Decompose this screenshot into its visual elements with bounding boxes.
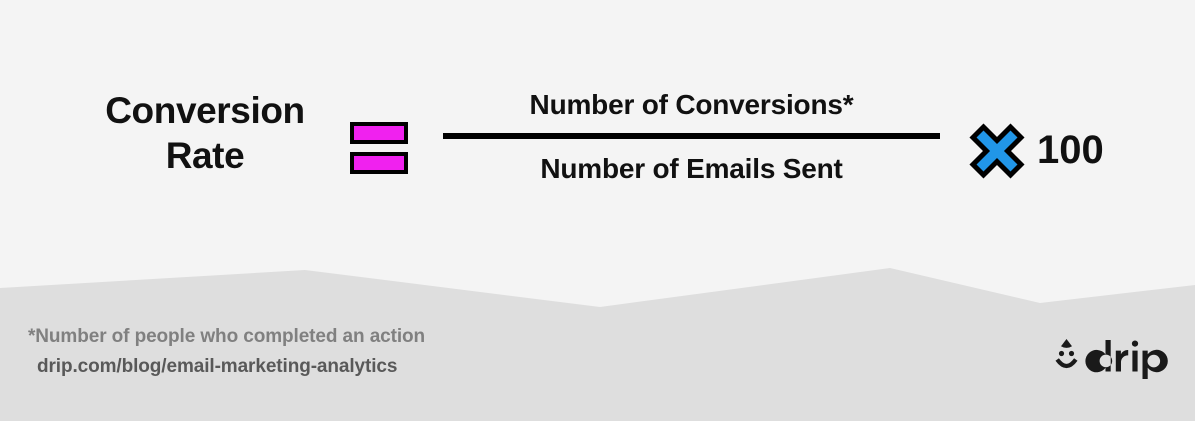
fraction-denominator: Number of Emails Sent bbox=[443, 139, 940, 186]
conversion-rate-label-line1: Conversion bbox=[60, 88, 350, 133]
drip-wordmark bbox=[1085, 340, 1167, 379]
equals-sign-icon bbox=[350, 122, 408, 178]
equals-bar-bottom bbox=[350, 152, 408, 174]
conversion-rate-label-line2: Rate bbox=[60, 133, 350, 178]
multiplier-value: 100 bbox=[1037, 123, 1104, 177]
equals-bar-top bbox=[350, 122, 408, 144]
formula-row: Conversion Rate Number of Conversions* N… bbox=[0, 88, 1195, 208]
multiply-x-icon bbox=[966, 120, 1028, 182]
footer-text-block: *Number of people who completed an actio… bbox=[28, 322, 648, 382]
fraction: Number of Conversions* Number of Emails … bbox=[443, 88, 940, 186]
drip-droplet-smiley-icon bbox=[1057, 339, 1076, 366]
conversion-rate-infographic: Conversion Rate Number of Conversions* N… bbox=[0, 0, 1195, 421]
footer-url-text: drip.com/blog/email-marketing-analytics bbox=[28, 352, 648, 382]
conversion-rate-label: Conversion Rate bbox=[60, 88, 350, 178]
footnote-text: *Number of people who completed an actio… bbox=[28, 322, 648, 352]
fraction-numerator: Number of Conversions* bbox=[443, 88, 940, 133]
drip-logo bbox=[1050, 333, 1170, 379]
